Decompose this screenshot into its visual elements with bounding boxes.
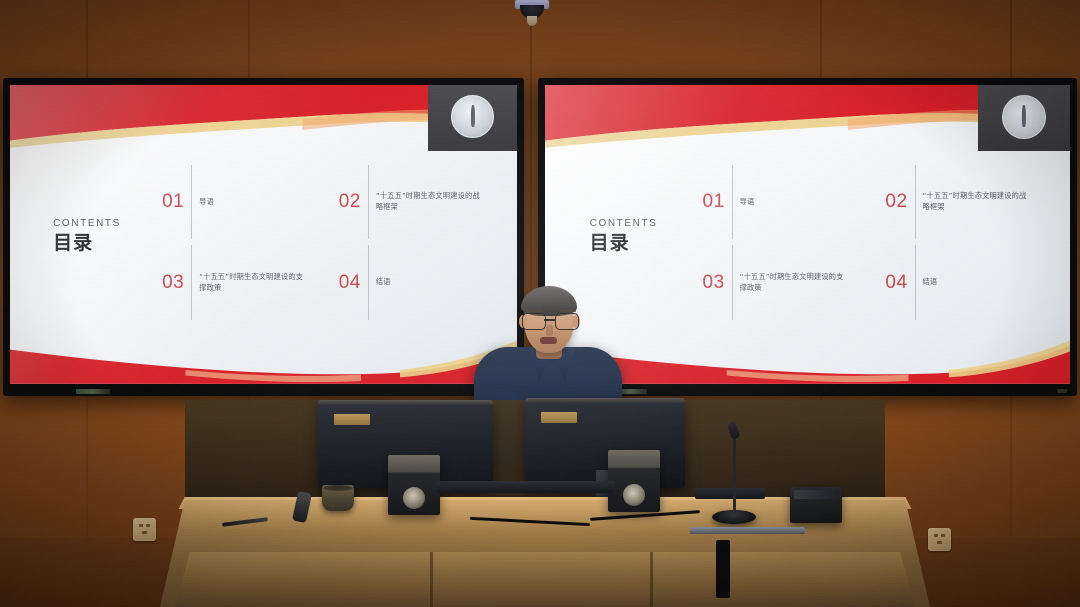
display-left-brand-badge xyxy=(76,389,110,394)
lens-left xyxy=(522,313,546,330)
toc-number-02: 02 xyxy=(885,192,907,211)
institution-logo-plate xyxy=(428,85,517,151)
slide-body-left: CONTENTS 目录 01 导语 02 “十五五”时期生态文明建设的战略框架 xyxy=(10,151,517,330)
toc-divider xyxy=(915,165,916,240)
laptop-keyboard[interactable] xyxy=(695,488,765,499)
toc-item-03: 03 “十五五”时期生态文明建设的支撑政策 xyxy=(703,242,872,323)
toc-number-03: 03 xyxy=(162,273,184,292)
slide-right: CONTENTS 目录 01 导语 02 “十五五”时期生态文明建设的战略框架 xyxy=(545,85,1070,384)
ceiling-dome-camera-icon xyxy=(515,0,549,26)
wall-power-socket-right xyxy=(928,528,951,551)
cable-raceway xyxy=(690,527,805,534)
desk-speaker-right xyxy=(608,450,660,512)
keyboard[interactable] xyxy=(437,481,615,493)
institution-seal-icon xyxy=(451,95,494,138)
av-device-box xyxy=(790,487,842,523)
toc-divider xyxy=(191,165,192,240)
display-left[interactable]: CONTENTS 目录 01 导语 02 “十五五”时期生态文明建设的战略框架 xyxy=(3,78,524,396)
contents-heading-en: CONTENTS xyxy=(53,219,121,229)
glasses-bridge xyxy=(544,319,555,321)
presenter-nose xyxy=(546,325,553,336)
camera-stem xyxy=(527,16,537,26)
contents-heading-cn: 目录 xyxy=(53,234,121,253)
speaker-right-port xyxy=(623,484,645,506)
toc-label-04: 结语 xyxy=(376,277,391,287)
institution-logo-plate xyxy=(978,85,1070,151)
contents-heading: CONTENTS 目录 xyxy=(590,219,658,253)
toc-divider xyxy=(732,165,733,240)
contents-heading-en: CONTENTS xyxy=(590,219,658,229)
toc-label-03: “十五五”时期生态文明建设的支撑政策 xyxy=(199,272,304,293)
cable-drop xyxy=(716,540,730,598)
contents-heading-cn: 目录 xyxy=(590,234,658,253)
toc-divider xyxy=(368,245,369,320)
toc-divider xyxy=(915,245,916,320)
slide-bottom-band xyxy=(10,333,517,384)
toc-item-01: 01 导语 xyxy=(162,162,325,243)
toc-number-01: 01 xyxy=(162,192,184,211)
institution-seal-icon xyxy=(1002,95,1046,139)
monitor-left-bezel xyxy=(318,400,493,405)
display-right-power-indicator[interactable] xyxy=(1057,389,1067,393)
speaker-left-port xyxy=(403,487,425,509)
desk-speaker-left xyxy=(388,455,440,515)
bottom-band-graphic xyxy=(545,333,1070,384)
desk-panel-seam xyxy=(650,552,653,607)
toc-number-03: 03 xyxy=(703,273,725,292)
screenshot-scene: CONTENTS 目录 01 导语 02 “十五五”时期生态文明建设的战略框架 xyxy=(0,0,1080,607)
presenter-brows xyxy=(521,285,578,315)
slide-bottom-band xyxy=(545,333,1070,384)
presenter-mouth xyxy=(540,337,557,344)
monitor-left-asset-label xyxy=(334,414,370,425)
bottom-band-graphic xyxy=(10,333,517,384)
toc-item-04: 04 结语 xyxy=(885,242,1054,323)
desk-panel-seam xyxy=(430,552,433,607)
display-right[interactable]: CONTENTS 目录 01 导语 02 “十五五”时期生态文明建设的战略框架 xyxy=(538,78,1077,396)
toc-divider xyxy=(732,245,733,320)
contents-grid: 01 导语 02 “十五五”时期生态文明建设的战略框架 03 “十五五”时期生态… xyxy=(703,162,1055,324)
toc-divider xyxy=(191,245,192,320)
toc-item-02: 02 “十五五”时期生态文明建设的战略框架 xyxy=(885,162,1054,243)
slide-body-right: CONTENTS 目录 01 导语 02 “十五五”时期生态文明建设的战略框架 xyxy=(545,151,1070,330)
toc-label-02: “十五五”时期生态文明建设的战略框架 xyxy=(923,191,1028,212)
toc-number-01: 01 xyxy=(703,192,725,211)
desk-front-panel xyxy=(175,552,915,607)
toc-number-04: 04 xyxy=(885,273,907,292)
toc-label-01: 导语 xyxy=(740,197,755,207)
toc-number-04: 04 xyxy=(339,273,361,292)
toc-number-02: 02 xyxy=(339,192,361,211)
toc-item-04: 04 结语 xyxy=(339,242,502,323)
toc-label-04: 结语 xyxy=(923,277,938,287)
contents-grid: 01 导语 02 “十五五”时期生态文明建设的战略框架 03 “十五五”时期生态… xyxy=(162,162,502,324)
toc-item-01: 01 导语 xyxy=(703,162,872,243)
tea-cup xyxy=(322,485,354,511)
lens-right xyxy=(555,313,579,330)
toc-label-01: 导语 xyxy=(199,197,214,207)
toc-label-03: “十五五”时期生态文明建设的支撑政策 xyxy=(740,272,845,293)
toc-item-02: 02 “十五五”时期生态文明建设的战略框架 xyxy=(339,162,502,243)
toc-item-03: 03 “十五五”时期生态文明建设的支撑政策 xyxy=(162,242,325,323)
monitor-right-bezel xyxy=(525,398,685,403)
toc-label-02: “十五五”时期生态文明建设的战略框架 xyxy=(376,191,481,212)
contents-heading: CONTENTS 目录 xyxy=(53,219,121,253)
monitor-right-asset-label xyxy=(541,412,577,423)
slide-left: CONTENTS 目录 01 导语 02 “十五五”时期生态文明建设的战略框架 xyxy=(10,85,517,384)
toc-divider xyxy=(368,165,369,240)
microphone-gooseneck xyxy=(733,428,736,514)
wall-power-socket-left xyxy=(133,518,156,541)
